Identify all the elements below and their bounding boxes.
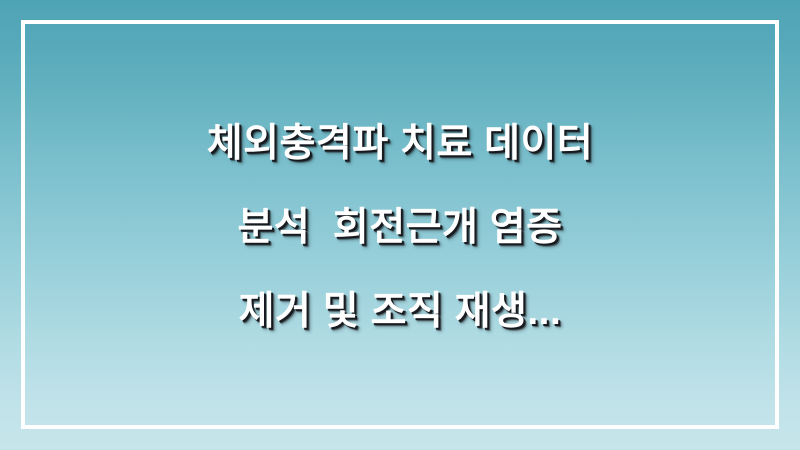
title-line-1: 체외충격파 치료 데이터	[207, 102, 593, 186]
title-line-3: 제거 및 조직 재생...	[239, 270, 562, 354]
title-line-2: 분석 회전근개 염증	[237, 186, 562, 270]
thumbnail-card: 체외충격파 치료 데이터 분석 회전근개 염증 제거 및 조직 재생...	[0, 0, 800, 450]
title-block: 체외충격파 치료 데이터 분석 회전근개 염증 제거 및 조직 재생...	[0, 0, 800, 450]
